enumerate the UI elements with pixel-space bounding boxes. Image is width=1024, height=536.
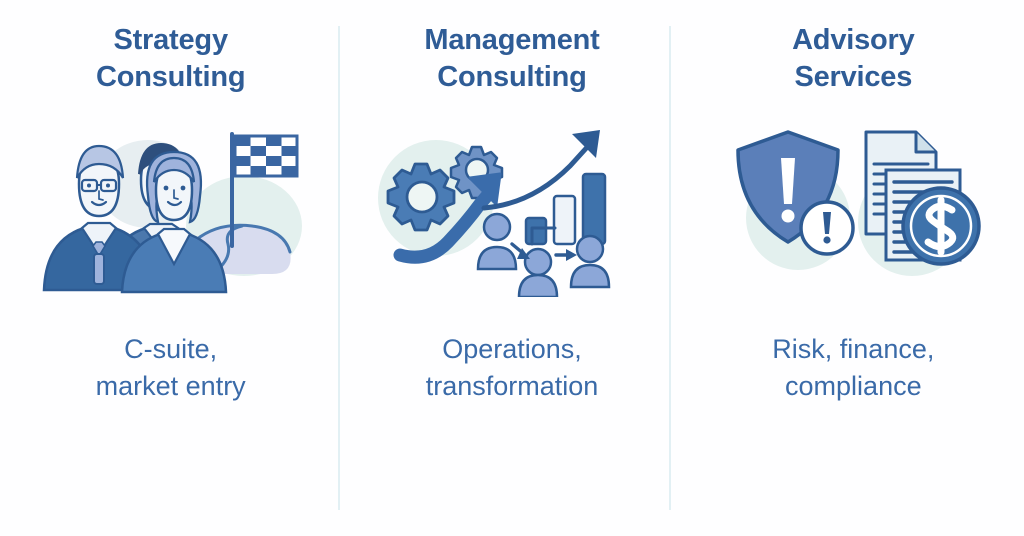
alert-badge-icon	[801, 202, 853, 254]
column-strategy-consulting[interactable]: Strategy Consulting	[0, 0, 341, 536]
caption-wrap: Risk, finance, compliance	[764, 331, 942, 404]
gear-large	[388, 164, 454, 230]
column-caption: Operations, transformation	[418, 331, 607, 404]
dollar-coin-icon	[903, 188, 979, 264]
checkered-flag	[235, 136, 297, 176]
risk-finance-svg	[726, 122, 981, 297]
gears-chart-svg	[374, 122, 649, 297]
caption-wrap: Operations, transformation	[418, 331, 607, 404]
bar-chart	[526, 174, 605, 244]
column-caption: C-suite, market entry	[88, 331, 254, 404]
gears-growth-chart-team-illustration	[374, 122, 649, 297]
three-column-service-board: Strategy Consulting	[0, 0, 1024, 536]
column-heading: Management Consulting	[414, 22, 609, 96]
column-advisory-services[interactable]: Advisory Services	[683, 0, 1024, 536]
arrow-2-to-3	[556, 249, 577, 261]
column-heading: Strategy Consulting	[86, 22, 255, 96]
column-heading: Advisory Services	[782, 22, 925, 96]
column-caption: Risk, finance, compliance	[764, 331, 942, 404]
column-management-consulting[interactable]: Management Consulting	[341, 0, 682, 536]
shield-alert-documents-money-illustration	[726, 122, 981, 297]
caption-wrap: C-suite, market entry	[88, 331, 254, 404]
business-team-goal-flag-illustration	[36, 122, 306, 297]
org-person-1	[478, 214, 516, 269]
team-flag-svg	[36, 122, 306, 297]
